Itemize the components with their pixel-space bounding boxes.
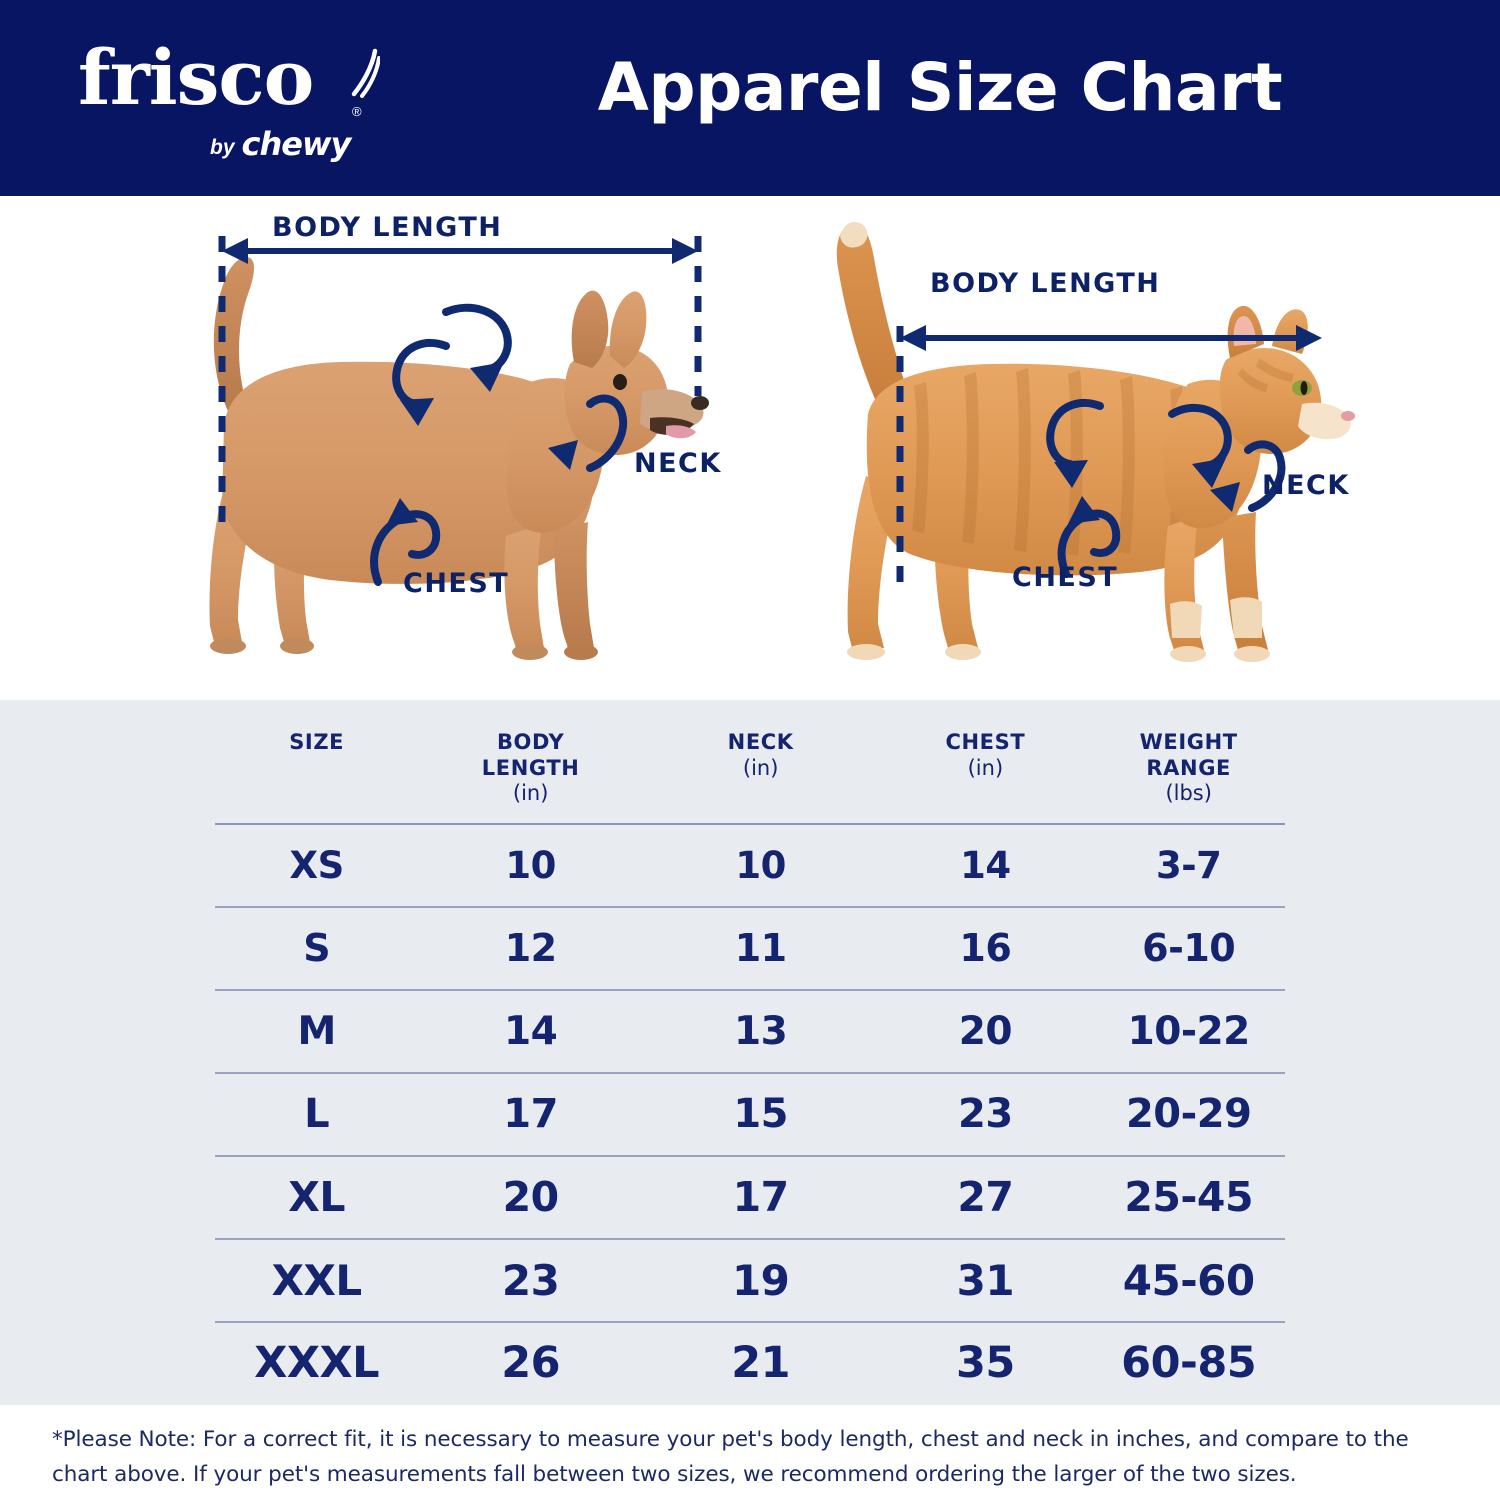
registered-trademark-icon: ® [352,104,362,119]
cell-weight: 10-22 [1092,990,1285,1073]
cell-neck: 11 [643,907,878,990]
cell-body-length: 17 [418,1073,643,1156]
cell-chest: 20 [878,990,1092,1073]
column-header-size-label: SIZE [289,730,344,754]
cell-neck: 19 [643,1239,878,1322]
column-header-size: SIZE [215,700,418,824]
measurement-illustrations: BODY LENGTH NECK CHEST [0,196,1500,700]
cell-size: XXL [215,1239,418,1322]
cell-size: M [215,990,418,1073]
column-header-neck-label: NECK [728,730,794,754]
cell-body-length: 10 [418,824,643,907]
cell-weight: 3-7 [1092,824,1285,907]
page-title: Apparel Size Chart [420,52,1460,125]
cell-size: XL [215,1156,418,1239]
column-header-body-length-unit: (in) [418,781,643,807]
dog-chest-label: CHEST [403,568,509,599]
cell-neck: 21 [643,1322,878,1404]
page-footer: *Please Note: For a correct fit, it is n… [0,1405,1500,1500]
table-body: XS 10 10 14 3-7 S 12 11 16 6-10 M 14 13 [215,824,1285,1404]
table-row: XXXL 26 21 35 60-85 [215,1322,1285,1404]
frisco-logo[interactable]: frisco ® by chewy [78,40,378,165]
frisco-wordmark: frisco [78,40,313,116]
cell-weight: 6-10 [1092,907,1285,990]
column-header-weight-line2: RANGE [1146,756,1231,780]
frisco-byline: by chewy [210,128,350,160]
cell-size: S [215,907,418,990]
cat-measurement-diagram: BODY LENGTH NECK CHEST [790,196,1390,700]
size-table-band: SIZE BODY LENGTH (in) NECK (in) CHEST (i… [0,700,1500,1405]
cat-neck-label: NECK [1262,470,1350,501]
cell-size: XS [215,824,418,907]
cell-body-length: 26 [418,1322,643,1404]
cell-chest: 31 [878,1239,1092,1322]
table-row: S 12 11 16 6-10 [215,907,1285,990]
cell-size: XXXL [215,1322,418,1404]
cell-neck: 10 [643,824,878,907]
column-header-chest: CHEST (in) [878,700,1092,824]
cell-chest: 14 [878,824,1092,907]
column-header-weight-unit: (lbs) [1092,781,1285,807]
cat-chest-label: CHEST [1012,562,1118,593]
table-row: L 17 15 23 20-29 [215,1073,1285,1156]
column-header-chest-unit: (in) [878,756,1092,782]
cell-body-length: 14 [418,990,643,1073]
column-header-neck-unit: (in) [643,756,878,782]
column-header-weight-range: WEIGHT RANGE (lbs) [1092,700,1285,824]
apparel-size-table: SIZE BODY LENGTH (in) NECK (in) CHEST (i… [215,700,1285,1404]
cell-chest: 23 [878,1073,1092,1156]
page-header: frisco ® by chewy Apparel Size Chart [0,0,1500,196]
cell-weight: 45-60 [1092,1239,1285,1322]
cell-neck: 17 [643,1156,878,1239]
cell-size: L [215,1073,418,1156]
table-row: XL 20 17 27 25-45 [215,1156,1285,1239]
dog-neck-label: NECK [634,448,722,479]
dog-measurement-diagram: BODY LENGTH NECK CHEST [150,196,770,700]
cell-chest: 27 [878,1156,1092,1239]
cell-weight: 20-29 [1092,1073,1285,1156]
column-header-weight-line1: WEIGHT [1140,730,1238,754]
cell-body-length: 12 [418,907,643,990]
column-header-neck: NECK (in) [643,700,878,824]
column-header-chest-label: CHEST [945,730,1025,754]
cell-weight: 25-45 [1092,1156,1285,1239]
cell-body-length: 23 [418,1239,643,1322]
footer-note: *Please Note: For a correct fit, it is n… [52,1423,1452,1493]
byline-prefix: by [210,137,235,160]
table-row: M 14 13 20 10-22 [215,990,1285,1073]
column-header-body-length-line2: LENGTH [482,756,580,780]
column-header-body-length-line1: BODY [497,730,564,754]
frisco-swish-icon [350,48,380,103]
table-row: XS 10 10 14 3-7 [215,824,1285,907]
cat-body-length-label: BODY LENGTH [930,268,1160,299]
cell-weight: 60-85 [1092,1322,1285,1404]
cell-neck: 15 [643,1073,878,1156]
cell-body-length: 20 [418,1156,643,1239]
size-chart-page: frisco ® by chewy Apparel Size Chart [0,0,1500,1500]
dog-body-length-label: BODY LENGTH [272,212,502,243]
cell-chest: 35 [878,1322,1092,1404]
cell-chest: 16 [878,907,1092,990]
cell-neck: 13 [643,990,878,1073]
column-header-body-length: BODY LENGTH (in) [418,700,643,824]
table-header-row: SIZE BODY LENGTH (in) NECK (in) CHEST (i… [215,700,1285,824]
chewy-wordmark: chewy [242,128,351,160]
table-row: XXL 23 19 31 45-60 [215,1239,1285,1322]
